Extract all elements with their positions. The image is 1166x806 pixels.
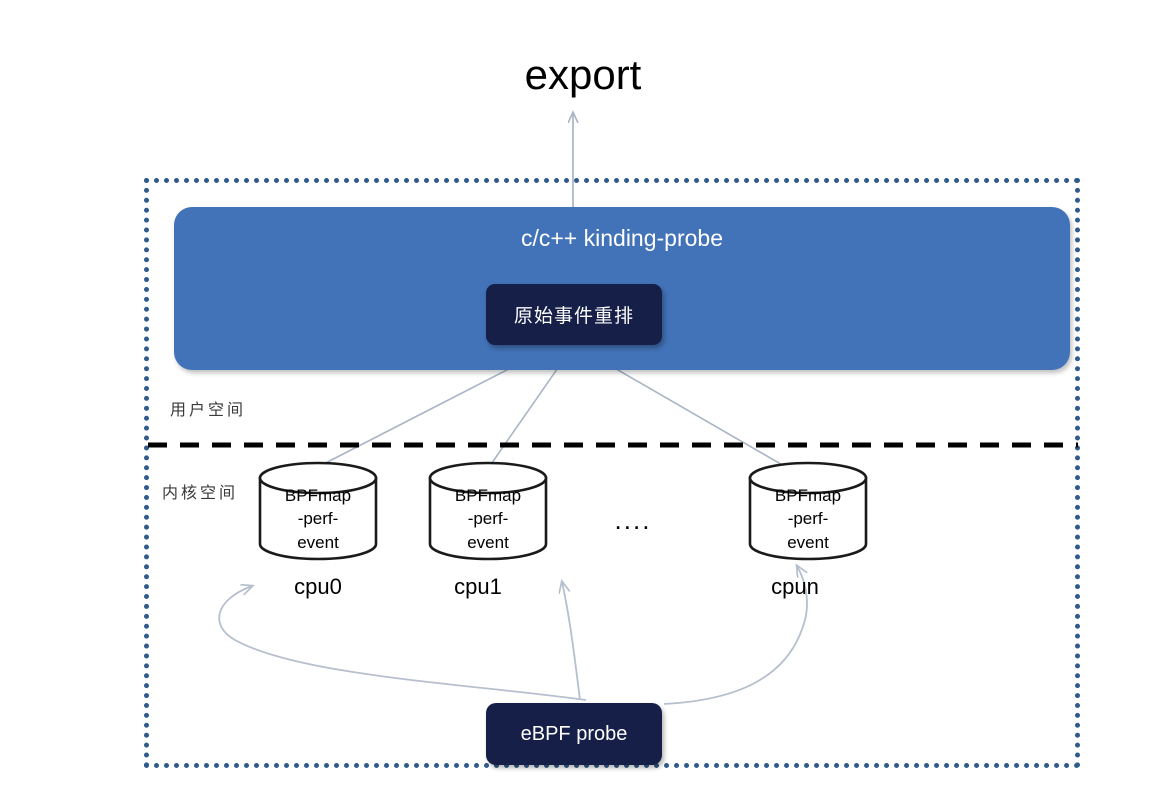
bpfmap-cylinder-cpu0[interactable]: BPFmap -perf- event [258, 462, 378, 560]
ebpf-probe-label: eBPF probe [521, 723, 628, 746]
cylinder-shape-icon [748, 462, 868, 560]
cylinder-caption-cpu1: cpu1 [408, 574, 548, 600]
user-space-label: 用户空间 [170, 396, 246, 420]
cylinder-caption-cpu0: cpu0 [248, 574, 388, 600]
cylinder-caption-cpun: cpun [725, 574, 865, 600]
diagram-canvas: export c/c++ kinding-probe [0, 0, 1166, 806]
cylinder-shape-icon [428, 462, 548, 560]
ebpf-probe-box[interactable]: eBPF probe [486, 703, 662, 765]
ellipsis-indicator: .... [563, 505, 703, 536]
export-title: export [0, 54, 1166, 96]
event-reorder-label: 原始事件重排 [514, 301, 634, 328]
cylinder-shape-icon [258, 462, 378, 560]
bpfmap-cylinder-cpu1[interactable]: BPFmap -perf- event [428, 462, 548, 560]
kernel-space-label: 内核空间 [162, 479, 238, 503]
bpfmap-cylinder-cpun[interactable]: BPFmap -perf- event [748, 462, 868, 560]
user-space-panel-label: c/c++ kinding-probe [174, 225, 1070, 252]
event-reorder-box[interactable]: 原始事件重排 [486, 284, 662, 345]
